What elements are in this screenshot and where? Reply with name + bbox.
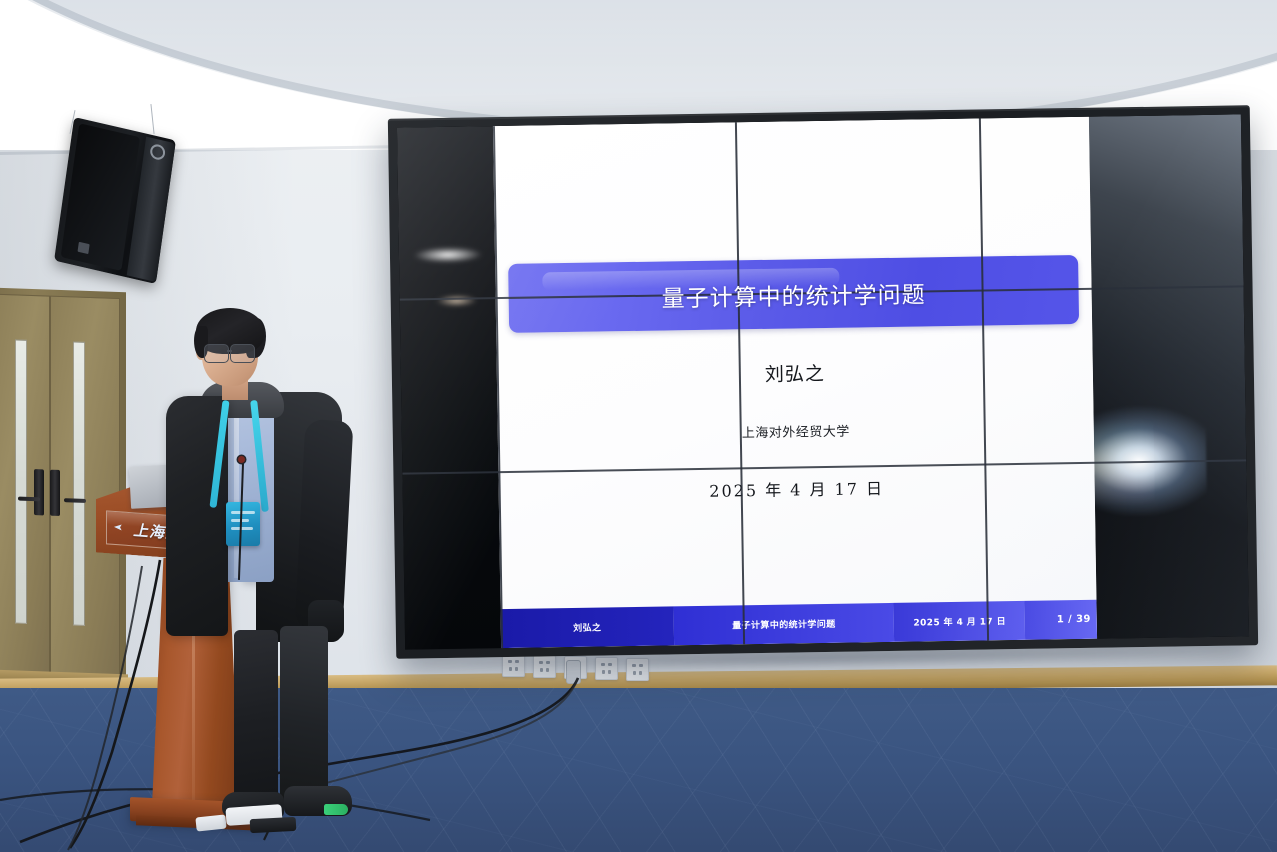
panel-column-right-dark [1089, 114, 1249, 638]
leg-right [280, 626, 328, 804]
clip-microphone-icon [238, 456, 245, 463]
speaker-logo-icon [78, 242, 90, 254]
door-handle-left[interactable] [34, 469, 44, 515]
slide-title: 量子计算中的统计学问题 [661, 275, 926, 313]
lecture-hall-scene: 量子计算中的统计学问题 刘弘之 上海对外经贸大学 2025 年 4 月 17 日… [0, 0, 1277, 852]
footer-page-number: 1 / 39 [1025, 600, 1097, 640]
glasses-lens-left [204, 344, 229, 363]
glasses-lens-right [230, 344, 255, 363]
shoe-sole-accent [324, 804, 348, 815]
conference-badge [226, 502, 260, 546]
presentation-slide[interactable]: 量子计算中的统计学问题 刘弘之 上海对外经贸大学 2025 年 4 月 17 日… [493, 117, 1097, 648]
video-wall-screen[interactable]: 量子计算中的统计学问题 刘弘之 上海对外经贸大学 2025 年 4 月 17 日… [397, 114, 1249, 649]
door-glass-left [15, 339, 27, 623]
panel-glare-spot-1 [413, 246, 483, 263]
door-lockplate[interactable] [50, 470, 60, 516]
leg-left [234, 630, 278, 802]
footer-author: 刘弘之 [501, 607, 674, 648]
panel-glare-spot-2 [436, 294, 478, 307]
floor-adapter [250, 817, 297, 833]
slide-title-banner: 量子计算中的统计学问题 [508, 255, 1079, 333]
door-lever-right[interactable] [64, 498, 86, 503]
footer-title: 量子计算中的统计学问题 [673, 603, 894, 645]
ceiling-speaker [54, 117, 176, 284]
plaque-star-icon [114, 524, 125, 531]
video-wall[interactable]: 量子计算中的统计学问题 刘弘之 上海对外经贸大学 2025 年 4 月 17 日… [388, 105, 1258, 658]
door-lever-left[interactable] [18, 497, 40, 502]
footer-date: 2025 年 4 月 17 日 [894, 601, 1026, 642]
panel-column-left-dark [397, 126, 501, 649]
presenter [160, 300, 370, 830]
door-glass-right [73, 341, 85, 625]
glasses-bridge [227, 350, 232, 352]
